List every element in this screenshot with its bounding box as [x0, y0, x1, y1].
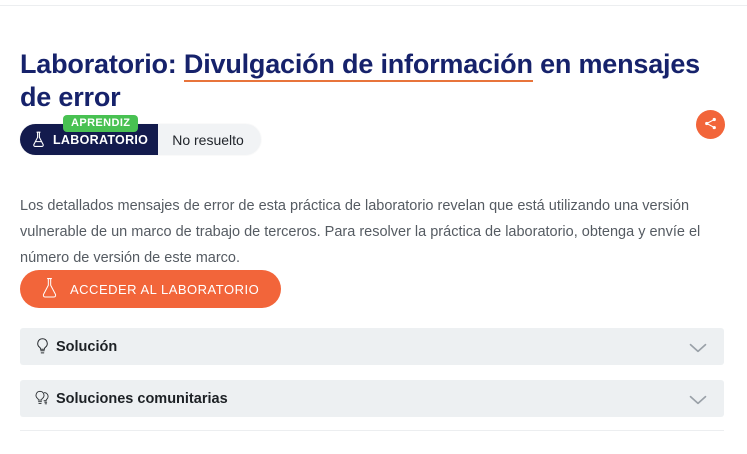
- lab-status-pill: LABORATORIO No resuelto: [20, 124, 261, 155]
- flask-icon: [40, 277, 59, 302]
- share-button[interactable]: [696, 110, 725, 139]
- chevron-down-icon: [688, 341, 708, 353]
- flask-icon: [31, 131, 46, 148]
- access-lab-button-label: ACCEDER AL LABORATORIO: [70, 282, 259, 297]
- accordion-community-solutions[interactable]: Soluciones comunitarias: [20, 380, 724, 417]
- chevron-down-icon: [688, 393, 708, 405]
- page-title: Laboratorio: Divulgación de información …: [20, 48, 720, 114]
- access-lab-button[interactable]: ACCEDER AL LABORATORIO: [20, 270, 281, 308]
- share-icon: [703, 116, 718, 134]
- status-badge: No resuelto: [158, 124, 261, 155]
- lightbulbs-icon: [34, 389, 51, 408]
- badge-row: LABORATORIO No resuelto: [20, 124, 261, 158]
- page-title-prefix: Laboratorio:: [20, 49, 184, 79]
- lightbulb-icon: [34, 337, 51, 356]
- lab-description: Los detallados mensajes de error de esta…: [20, 193, 704, 271]
- bottom-divider: [20, 430, 724, 431]
- accordion-solution[interactable]: Solución: [20, 328, 724, 365]
- top-divider: [0, 5, 747, 6]
- lab-page: Laboratorio: Divulgación de información …: [0, 0, 747, 454]
- accordion-solution-label: Solución: [56, 339, 117, 355]
- accordion-community-solutions-label: Soluciones comunitarias: [56, 391, 228, 407]
- page-title-highlight: Divulgación de información: [184, 49, 533, 82]
- lab-type-label: LABORATORIO: [53, 133, 148, 147]
- difficulty-badge: APRENDIZ: [63, 115, 138, 132]
